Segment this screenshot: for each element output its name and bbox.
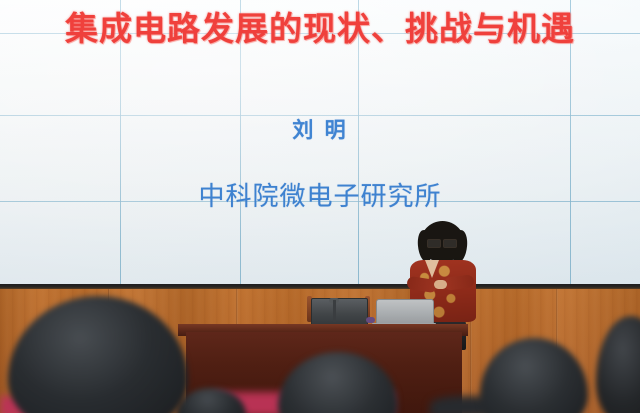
presentation-video-wall: 集成电路发展的现状、挑战与机遇 刘 明 中科院微电子研究所 xyxy=(0,0,640,284)
slide-title: 集成电路发展的现状、挑战与机遇 xyxy=(0,2,640,50)
speaker-hands xyxy=(434,280,447,289)
lecture-photo-scene: 集成电路发展的现状、挑战与机遇 刘 明 中科院微电子研究所 hp xyxy=(0,0,640,413)
microphone-stem xyxy=(333,300,336,322)
eyeglasses-icon xyxy=(427,239,457,246)
slide-author-name: 刘 明 xyxy=(0,114,640,144)
screen-bottom-bezel xyxy=(0,284,640,289)
slide-affiliation: 中科院微电子研究所 xyxy=(0,176,640,213)
